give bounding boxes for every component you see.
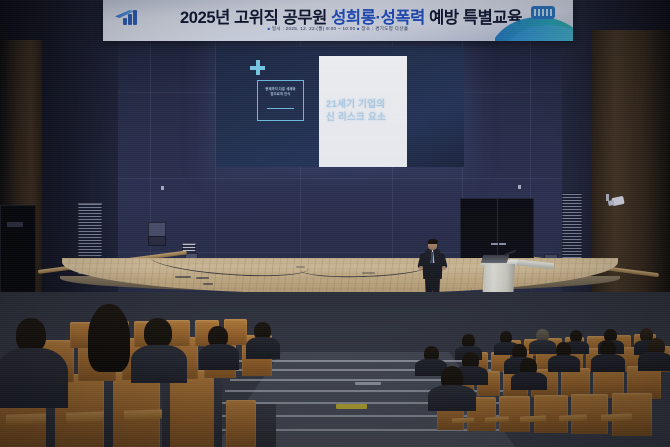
auditorium-photo: 현재까지 다룬 세계와 앞으로의 인식 21세기 기업의 신 리스크 요소 20… (0, 0, 670, 447)
wood-panel-right (592, 30, 670, 330)
aisle-marker-upper (355, 382, 381, 385)
banner-title: 2025년 고위직 공무원 성희롱·성폭력 예방 특별교육 (155, 4, 547, 28)
slide-caption-text: 현재까지 다룬 세계와 앞으로의 인식 (258, 87, 303, 97)
event-banner: 2025년 고위직 공무원 성희롱·성폭력 예방 특별교육 ■ 일시 : 202… (103, 0, 573, 41)
wall-panel-box-upper (148, 222, 166, 237)
wall-panel-box-lower (148, 236, 166, 246)
laptop-icon (481, 255, 510, 263)
slide-caption-box: 현재까지 다룬 세계와 앞으로의 인식 (257, 80, 304, 121)
gyeonggi-province-logo-icon (495, 0, 573, 41)
aisle-caution-sign (336, 404, 367, 409)
projection-screen: 현재까지 다룬 세계와 앞으로의 인식 21세기 기업의 신 리스크 요소 (216, 47, 464, 167)
slide-title: 21세기 기업의 신 리스크 요소 (326, 99, 412, 124)
slide-caption-rule (267, 108, 294, 109)
plus-icon (250, 60, 265, 75)
organization-logo-icon (113, 7, 145, 27)
